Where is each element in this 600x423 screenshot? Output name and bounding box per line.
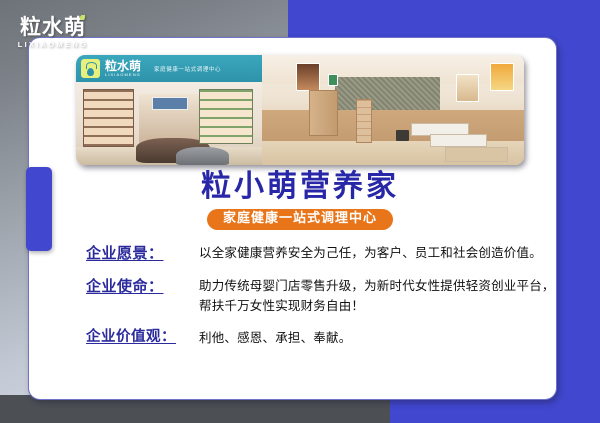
- brand-logo-en: LIXIAOMENG: [14, 41, 92, 49]
- row-label-values: 企业价值观：: [86, 328, 199, 348]
- room-back-wall: [335, 77, 440, 110]
- info-row: 企业使命： 助力传统母婴门店零售升级，为新时代女性提供轻资创业平台， 帮扶千万女…: [86, 276, 562, 315]
- store-back-wall: [139, 94, 199, 145]
- row-body-values: 利他、感恩、承担、奉献。: [199, 328, 351, 347]
- signboard-brand-en: LIXIAOMENG: [105, 73, 141, 77]
- info-row: 企业愿景： 以全家健康营养安全为己任，为客户、员工和社会创造价值。: [86, 243, 562, 263]
- wall-poster-3: [456, 74, 480, 103]
- page-title: 粒小萌营养家: [0, 172, 600, 202]
- subtitle-badge-wrap: 家庭健康一站式调理中心: [0, 209, 600, 230]
- signboard-brand: 粒水萌 LIXIAOMENG: [105, 60, 141, 77]
- store-sofa-gray: [176, 147, 228, 165]
- droplet-logo-icon: [81, 59, 100, 78]
- massage-bed-2: [430, 134, 488, 147]
- room-stool: [396, 130, 409, 141]
- wall-poster-2: [328, 74, 338, 86]
- slide-canvas: 粒水萌 LIXIAOMENG 粒水萌 LIXIAOMENG 家庭健康一站式调理中…: [0, 0, 600, 423]
- storefront-signboard: 粒水萌 LIXIAOMENG 家庭健康一站式调理中心: [76, 55, 262, 82]
- storefront-photo: 粒水萌 LIXIAOMENG 家庭健康一站式调理中心: [76, 55, 262, 165]
- row-line: 帮扶千万女性实现财务自由！: [199, 296, 555, 315]
- row-label-mission: 企业使命：: [86, 276, 199, 296]
- subtitle-badge: 家庭健康一站式调理中心: [207, 209, 393, 230]
- brand-logo: 粒水萌 LIXIAOMENG: [14, 17, 92, 49]
- room-cabinet: [309, 90, 338, 136]
- row-body-vision: 以全家健康营养安全为己任，为客户、员工和社会创造价值。: [199, 243, 542, 262]
- info-rows: 企业愿景： 以全家健康营养安全为己任，为客户、员工和社会创造价值。 企业使命： …: [86, 243, 562, 361]
- wall-poster-1: [296, 63, 320, 92]
- room-shelf: [356, 99, 372, 143]
- signboard-brand-cn: 粒水萌: [105, 60, 141, 72]
- row-body-mission: 助力传统母婴门店零售升级，为新时代女性提供轻资创业平台， 帮扶千万女性实现财务自…: [199, 276, 555, 315]
- brand-logo-cn: 粒水萌: [14, 17, 92, 38]
- photo-strip: 粒水萌 LIXIAOMENG 家庭健康一站式调理中心: [76, 55, 524, 165]
- massage-bed-3: [445, 147, 508, 161]
- signboard-subtitle: 家庭健康一站式调理中心: [154, 65, 221, 73]
- row-line: 以全家健康营养安全为己任，为客户、员工和社会创造价值。: [199, 243, 542, 262]
- treatment-room-photo: [262, 55, 524, 165]
- row-line: 助力传统母婴门店零售升级，为新时代女性提供轻资创业平台，: [199, 276, 555, 295]
- row-line: 利他、感恩、承担、奉献。: [199, 328, 351, 347]
- row-label-vision: 企业愿景：: [86, 243, 199, 263]
- wall-poster-4: [490, 63, 514, 92]
- store-interior-body: [76, 82, 262, 165]
- leaf-icon: [80, 15, 85, 20]
- info-row: 企业价值观： 利他、感恩、承担、奉献。: [86, 328, 562, 348]
